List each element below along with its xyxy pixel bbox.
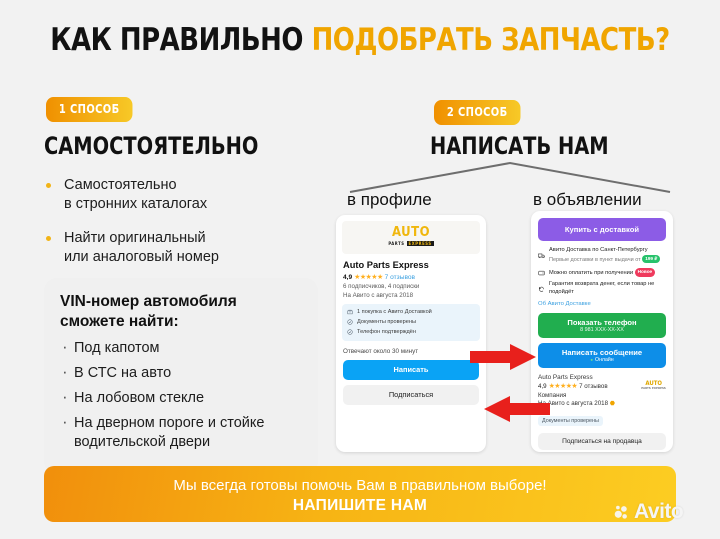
brand-logo: AUTO PARTS EXPRESS bbox=[342, 221, 480, 254]
subscribe-button[interactable]: Подписаться bbox=[343, 385, 479, 405]
delivery-label: Можно оплатить при получении bbox=[549, 270, 633, 276]
poster-canvas: КАК ПРАВИЛЬНО ПОДОБРАТЬ ЗАПЧАСТЬ? 1 СПОС… bbox=[0, 0, 720, 539]
list-item: На лобовом стекле bbox=[60, 389, 302, 408]
arrow-right-icon bbox=[470, 344, 536, 370]
return-arrow-icon bbox=[538, 281, 545, 296]
delivery-box-icon bbox=[347, 309, 353, 315]
followers-text: 6 подписчиков, 4 подписки bbox=[343, 283, 479, 290]
step-badge-1: 1 СПОСОБ bbox=[46, 97, 132, 122]
logo-parts-text: PARTS bbox=[388, 241, 404, 246]
about-delivery-link[interactable]: Об Авито Доставке bbox=[538, 301, 666, 307]
list-item: Телефон подтверждён bbox=[347, 327, 475, 337]
delivery-sub: Первые доставки в пункт выдачи от bbox=[549, 256, 641, 262]
list-item: В СТС на авто bbox=[60, 364, 302, 383]
truck-icon bbox=[538, 247, 545, 264]
list-item: На дверном пороге и стойке водительской … bbox=[60, 414, 302, 452]
list-item: Авито Доставка по Санкт-Петербургу Первы… bbox=[538, 247, 666, 264]
cta-line-2: НАПИШИТЕ НАМ bbox=[44, 496, 676, 516]
subscribe-seller-button[interactable]: Подписаться на продавца bbox=[538, 433, 666, 450]
reviews-text[interactable]: 7 отзывов bbox=[579, 383, 608, 390]
reviews-link[interactable]: 7 отзывов bbox=[385, 274, 415, 281]
rating-value: 4,9 bbox=[343, 274, 352, 281]
step-heading-2: НАПИСАТЬ НАМ bbox=[430, 132, 609, 160]
show-phone-title: Показать телефон bbox=[538, 318, 666, 327]
delivery-label: Гарантия возврата денег, если товар не п… bbox=[549, 281, 666, 296]
ad-card: Купить с доставкой Авито Доставка по Сан… bbox=[531, 211, 673, 452]
bullet-text: Найти оригинальный или аналоговый номер bbox=[64, 230, 219, 265]
avito-wordmark: Avito bbox=[634, 500, 683, 524]
connector-lines bbox=[345, 160, 675, 194]
answer-time-text: Отвечают около 30 минут bbox=[343, 348, 479, 355]
badge-label: 1 покупка с Авито Доставкой bbox=[357, 309, 432, 315]
list-item: Найти оригинальный или аналоговый номер bbox=[42, 229, 322, 267]
arrow-left-icon bbox=[484, 396, 550, 422]
left-bullet-list: Самостоятельно в стронних каталогах Найт… bbox=[42, 176, 322, 282]
show-phone-subtitle: 8 981 XXX-XX-XX bbox=[538, 327, 666, 333]
profile-card: AUTO PARTS EXPRESS Auto Parts Express 4,… bbox=[336, 215, 486, 452]
list-item: Гарантия возврата денег, если товар не п… bbox=[538, 281, 666, 296]
shield-icon: ⬣ bbox=[610, 400, 615, 407]
sublabel-profile: в профиле bbox=[347, 190, 432, 210]
step-heading-1: САМОСТОЯТЕЛЬНО bbox=[44, 132, 258, 160]
buy-with-delivery-button[interactable]: Купить с доставкой bbox=[538, 218, 666, 241]
vin-card-title: VIN-номер автомобиля сможете найти: bbox=[60, 292, 302, 332]
logo-auto-text: AUTO bbox=[388, 227, 433, 238]
list-item: 1 покупка с Авито Доставкой bbox=[347, 307, 475, 317]
price-pill: 199 ₽ bbox=[642, 255, 660, 264]
check-circle-icon bbox=[347, 319, 353, 325]
list-item: Можно оплатить при получении Новое bbox=[538, 268, 666, 277]
cta-banner: Мы всегда готовы помочь Вам в правильном… bbox=[44, 466, 676, 522]
profile-rating-row: 4,9 ★★★★★ 7 отзывов bbox=[343, 273, 479, 281]
badge-label: Документы проверены bbox=[357, 319, 416, 325]
list-item: Самостоятельно в стронних каталогах bbox=[42, 176, 322, 214]
profile-badge-list: 1 покупка с Авито Доставкой Документы пр… bbox=[342, 304, 480, 341]
online-status: Онлайн bbox=[538, 357, 666, 363]
check-circle-icon bbox=[347, 329, 353, 335]
seller-type: Компания bbox=[538, 392, 666, 399]
page-title-part2: ПОДОБРАТЬ ЗАПЧАСТЬ? bbox=[312, 22, 670, 58]
bullet-text: Самостоятельно в стронних каталогах bbox=[64, 177, 207, 212]
page-title: КАК ПРАВИЛЬНО ПОДОБРАТЬ ЗАПЧАСТЬ? bbox=[25, 22, 695, 58]
list-item: Под капотом bbox=[60, 339, 302, 358]
send-message-title: Написать сообщение bbox=[538, 348, 666, 357]
delivery-label: Авито Доставка по Санкт-Петербургу bbox=[549, 247, 660, 255]
stars-icon: ★★★★★ bbox=[549, 382, 577, 390]
vin-info-card: VIN-номер автомобиля сможете найти: Под … bbox=[44, 278, 318, 474]
avito-logo-icon bbox=[614, 504, 631, 521]
stars-icon: ★★★★★ bbox=[354, 273, 382, 281]
list-item: Документы проверены bbox=[347, 317, 475, 327]
badge-label: Телефон подтверждён bbox=[357, 329, 416, 335]
page-title-part1: КАК ПРАВИЛЬНО bbox=[50, 22, 311, 58]
wallet-icon bbox=[538, 268, 545, 277]
profile-name: Auto Parts Express bbox=[343, 260, 479, 270]
cta-line-1: Мы всегда готовы помочь Вам в правильном… bbox=[44, 476, 676, 496]
rating-value: 4,9 bbox=[538, 383, 547, 390]
write-button[interactable]: Написать bbox=[343, 360, 479, 380]
member-since-text: На Авито с августа 2018 bbox=[343, 292, 479, 299]
avito-watermark: Avito bbox=[614, 500, 683, 524]
logo-express-text: EXPRESS bbox=[407, 241, 434, 246]
seller-since: На Авито с августа 2018 ⬣ bbox=[538, 400, 666, 407]
step-badge-2: 2 СПОСОБ bbox=[434, 100, 520, 125]
show-phone-button[interactable]: Показать телефон 8 981 XXX-XX-XX bbox=[538, 313, 666, 338]
send-message-button[interactable]: Написать сообщение Онлайн bbox=[538, 343, 666, 368]
brand-logo-small: AUTO PARTS EXPRESS bbox=[641, 381, 666, 391]
logo-sub-text: PARTS EXPRESS bbox=[641, 386, 666, 391]
sublabel-ad: в объявлении bbox=[533, 190, 642, 210]
seller-info: AUTO PARTS EXPRESS Auto Parts Express 4,… bbox=[538, 374, 666, 427]
new-pill: Новое bbox=[635, 268, 656, 277]
